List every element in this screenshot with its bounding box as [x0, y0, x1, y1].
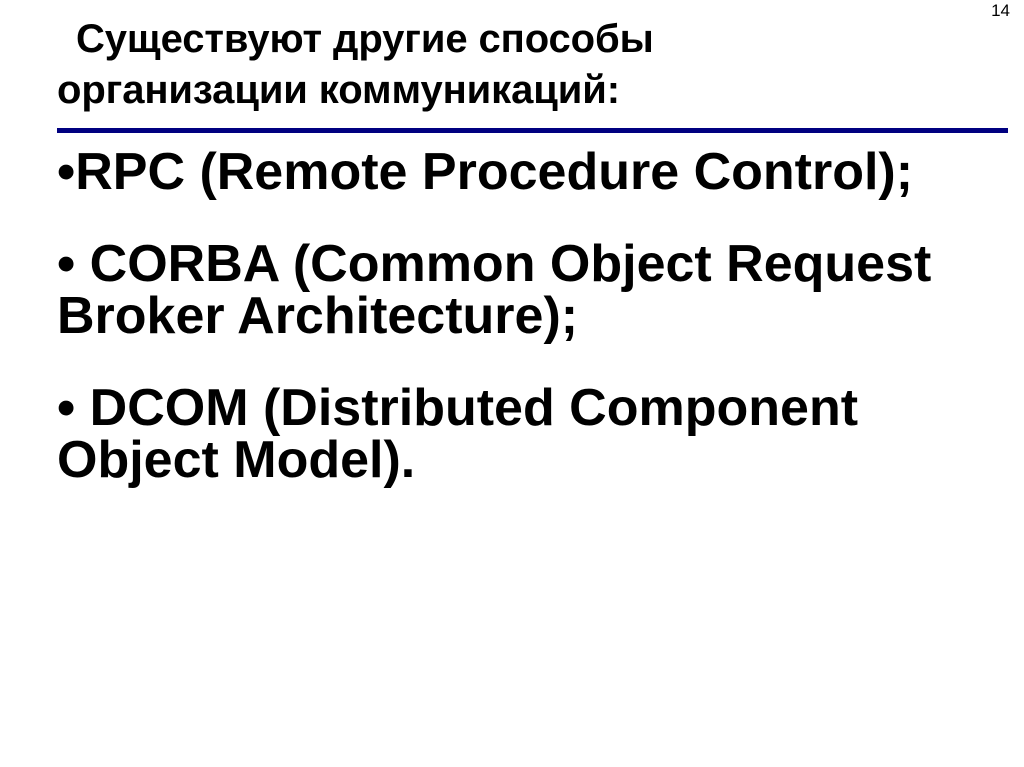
bullet-list: •RPC (Remote Procedure Control); • CORBA…: [57, 146, 987, 486]
slide-title: Существуют другие способы организации ко…: [57, 14, 757, 116]
slide-canvas: 14 Существуют другие способы организации…: [0, 0, 1024, 767]
title-divider-rule: [57, 128, 1008, 133]
list-item: •RPC (Remote Procedure Control);: [57, 146, 987, 198]
title-line-2: организации коммуникаций:: [57, 65, 757, 116]
list-item: • DCOM (Distributed Component Object Mod…: [57, 382, 987, 486]
page-number: 14: [991, 2, 1010, 21]
list-item: • CORBA (Common Object Request Broker Ar…: [57, 238, 987, 342]
title-line-1: Существуют другие способы: [57, 14, 757, 65]
